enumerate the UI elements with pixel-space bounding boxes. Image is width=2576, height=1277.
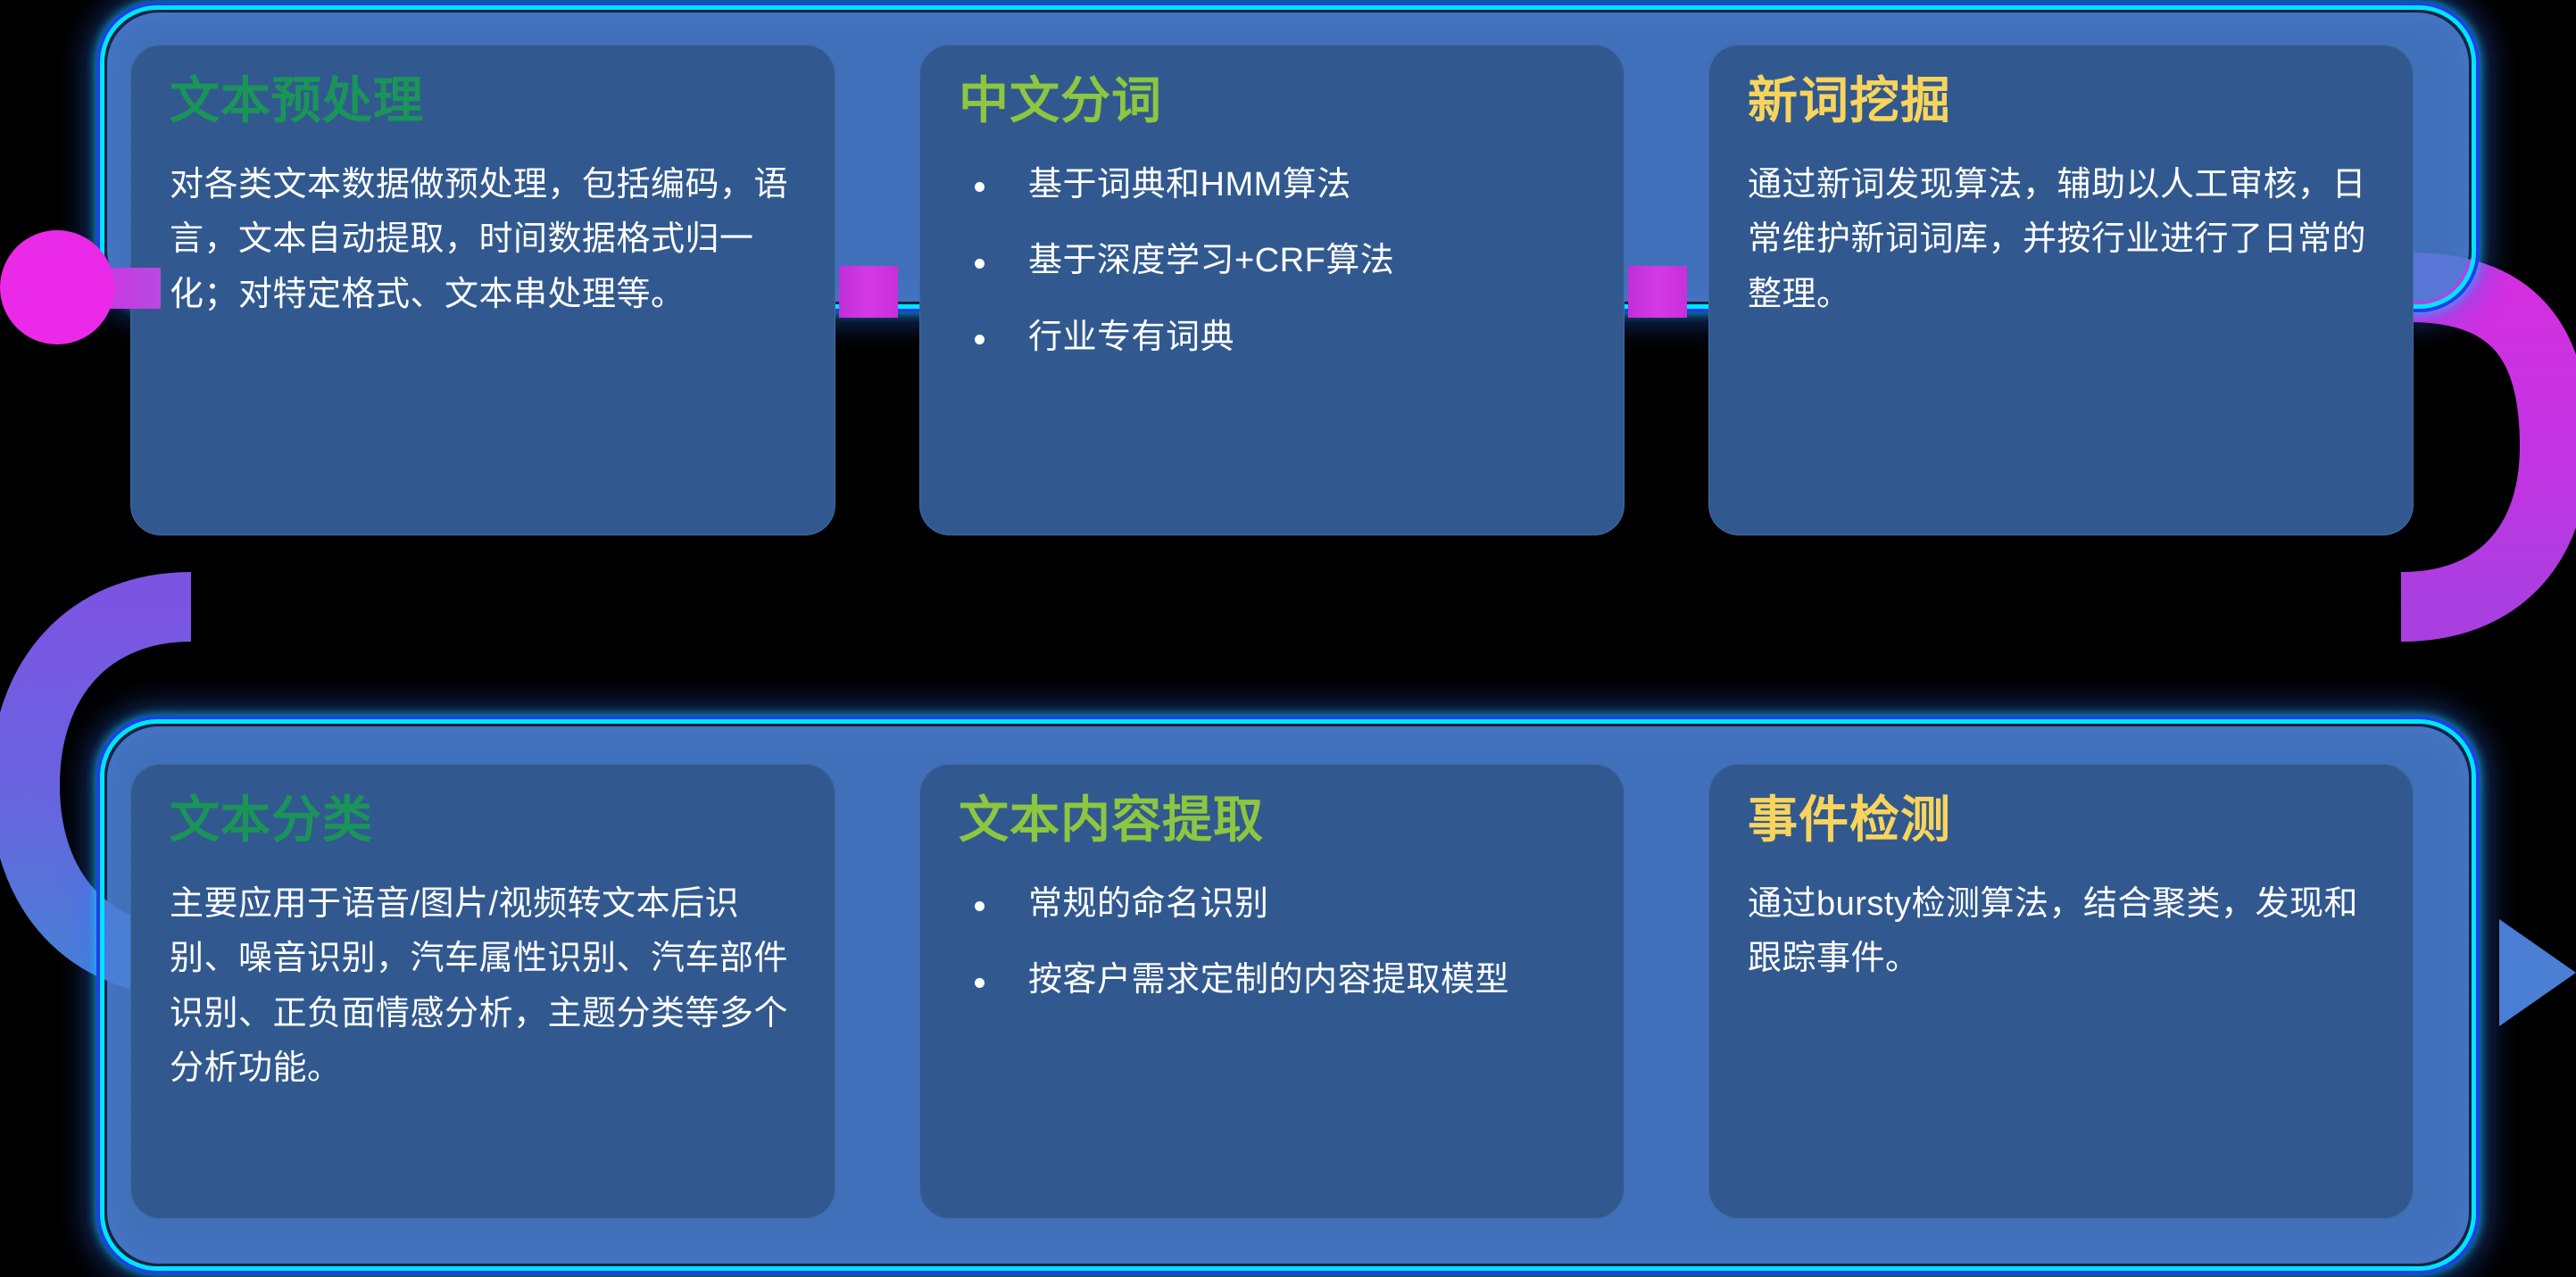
- list-item: 行业专有词典: [959, 311, 1585, 366]
- card-text-classification[interactable]: 文本分类 主要应用于语音/图片/视频转文本后识别、噪音识别，汽车属性识别、汽车部…: [130, 764, 835, 1219]
- list-item-label: 行业专有词典: [1028, 319, 1234, 356]
- card-body-bullet-list: 基于词典和HMM算法 基于深度学习+CRF算法 行业专有词典: [959, 158, 1585, 366]
- card-body-paragraph: 主要应用于语音/图片/视频转文本后识别、噪音识别，汽车属性识别、汽车部件识别、正…: [170, 877, 796, 1097]
- list-item: 基于词典和HMM算法: [959, 158, 1585, 213]
- card-body-paragraph: 对各类文本数据做预处理，包括编码，语言，文本自动提取，时间数据格式归一化；对特定…: [170, 158, 796, 323]
- card-body-paragraph: 通过新词发现算法，辅助以人工审核，日常维护新词词库，并按行业进行了日常的整理。: [1748, 158, 2374, 323]
- card-body-bullet-list: 常规的命名识别 按客户需求定制的内容提取模型: [959, 877, 1585, 1008]
- diagram-canvas: 文本预处理 对各类文本数据做预处理，包括编码，语言，文本自动提取，时间数据格式归…: [0, 0, 2576, 1277]
- bullet-dot-icon: [975, 259, 985, 269]
- card-text-content-extraction[interactable]: 文本内容提取 常规的命名识别 按客户需求定制的内容提取模型: [919, 764, 1625, 1219]
- card-body-paragraph: 通过bursty检测算法，结合聚类，发现和跟踪事件。: [1748, 877, 2374, 987]
- bullet-dot-icon: [975, 335, 985, 344]
- connector-chip-icon: [839, 266, 898, 318]
- bullet-dot-icon: [975, 901, 985, 911]
- start-circle-icon: [0, 230, 114, 344]
- connector-chip-icon: [1628, 266, 1687, 318]
- card-title: 新词挖掘: [1748, 75, 2374, 128]
- card-event-detection[interactable]: 事件检测 通过bursty检测算法，结合聚类，发现和跟踪事件。: [1708, 764, 2414, 1219]
- list-item-label: 基于词典和HMM算法: [1028, 166, 1351, 203]
- card-title: 事件检测: [1748, 794, 2374, 847]
- card-title: 文本内容提取: [959, 794, 1585, 847]
- card-title: 文本预处理: [170, 75, 796, 128]
- card-title: 文本分类: [170, 794, 796, 847]
- bullet-dot-icon: [975, 978, 985, 988]
- bullet-dot-icon: [975, 182, 985, 192]
- flow-curve-right: [2401, 287, 2555, 607]
- arrow-right-icon: [2499, 919, 2576, 1026]
- card-new-word-discovery[interactable]: 新词挖掘 通过新词发现算法，辅助以人工审核，日常维护新词词库，并按行业进行了日常…: [1708, 45, 2414, 535]
- list-item-label: 按客户需求定制的内容提取模型: [1028, 961, 1509, 999]
- list-item: 按客户需求定制的内容提取模型: [959, 953, 1585, 1008]
- card-text-preprocessing[interactable]: 文本预处理 对各类文本数据做预处理，包括编码，语言，文本自动提取，时间数据格式归…: [130, 45, 835, 535]
- list-item: 常规的命名识别: [959, 877, 1585, 933]
- card-chinese-word-segmentation[interactable]: 中文分词 基于词典和HMM算法 基于深度学习+CRF算法 行业专有词典: [919, 45, 1625, 535]
- list-item: 基于深度学习+CRF算法: [959, 234, 1585, 289]
- list-item-label: 常规的命名识别: [1028, 885, 1269, 923]
- list-item-label: 基于深度学习+CRF算法: [1028, 242, 1394, 279]
- card-title: 中文分词: [959, 75, 1585, 128]
